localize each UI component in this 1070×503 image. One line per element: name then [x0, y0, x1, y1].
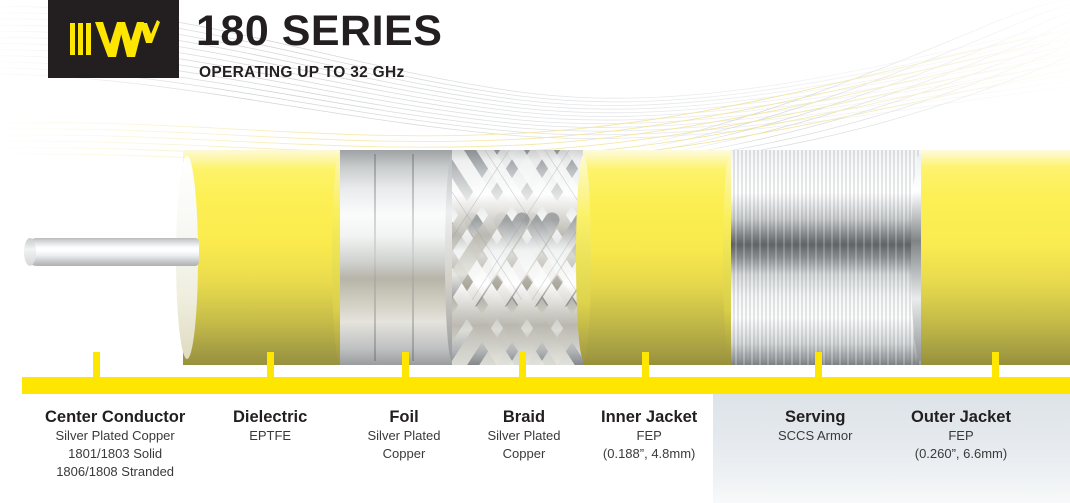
brand-logo	[48, 0, 179, 78]
label-detail-foil-1: Copper	[368, 445, 441, 463]
scale-tick-4	[642, 352, 649, 377]
scale-tick-5	[815, 352, 822, 377]
label-detail-braid-0: Silver Plated	[488, 427, 561, 445]
label-dielectric: DielectricEPTFE	[233, 408, 307, 445]
cable-layer-foil	[340, 150, 452, 365]
inner-jacket-left-rim	[576, 155, 591, 360]
page-subtitle: OPERATING UP TO 32 GHz	[199, 64, 442, 82]
label-row: Center ConductorSilver Plated Copper1801…	[0, 394, 1070, 503]
label-detail-center-conductor-0: Silver Plated Copper	[45, 427, 185, 445]
scale-tick-1	[267, 352, 274, 377]
label-detail-foil-0: Silver Plated	[368, 427, 441, 445]
scale-tick-2	[402, 352, 409, 377]
label-detail-center-conductor-1: 1801/1803 Solid	[45, 445, 185, 463]
label-foil: FoilSilver PlatedCopper	[368, 408, 441, 463]
label-detail-inner-jacket-0: FEP	[601, 427, 697, 445]
label-detail-serving-0: SCCS Armor	[778, 427, 852, 445]
page-title: 180 SERIES	[196, 10, 442, 53]
label-detail-center-conductor-2: 1806/1808 Stranded	[45, 463, 185, 481]
foil-seam-line	[374, 154, 376, 361]
label-serving: ServingSCCS Armor	[778, 408, 852, 445]
cable-layer-braid	[452, 150, 586, 365]
label-center-conductor: Center ConductorSilver Plated Copper1801…	[45, 408, 185, 481]
label-detail-outer-jacket-1: (0.260”, 6.6mm)	[911, 445, 1011, 463]
header-banner: 180 SERIES OPERATING UP TO 32 GHz	[0, 0, 1070, 160]
scale-bar	[22, 377, 1070, 394]
center-conductor-end-cap	[24, 238, 36, 266]
label-title-braid: Braid	[488, 408, 561, 427]
cable-layer-dielectric	[183, 150, 340, 365]
label-inner-jacket: Inner JacketFEP(0.188”, 4.8mm)	[601, 408, 697, 463]
label-title-dielectric: Dielectric	[233, 408, 307, 427]
cable-layer-outer-jacket	[921, 150, 1070, 365]
label-title-center-conductor: Center Conductor	[45, 408, 185, 427]
label-detail-inner-jacket-1: (0.188”, 4.8mm)	[601, 445, 697, 463]
cable-cutaway-illustration	[0, 150, 1070, 365]
label-title-outer-jacket: Outer Jacket	[911, 408, 1011, 427]
cable-layer-serving	[731, 150, 921, 365]
label-title-inner-jacket: Inner Jacket	[601, 408, 697, 427]
scale-tick-0	[93, 352, 100, 377]
label-detail-braid-1: Copper	[488, 445, 561, 463]
serving-wire-pattern	[731, 150, 921, 365]
highlight-band	[713, 394, 1070, 503]
cable-layer-center-conductor	[24, 238, 199, 266]
label-detail-outer-jacket-0: FEP	[911, 427, 1011, 445]
foil-seam-line	[412, 154, 414, 361]
title-block: 180 SERIES OPERATING UP TO 32 GHz	[196, 10, 442, 82]
label-outer-jacket: Outer JacketFEP(0.260”, 6.6mm)	[911, 408, 1011, 463]
label-title-foil: Foil	[368, 408, 441, 427]
scale-tick-3	[519, 352, 526, 377]
product-spec-diagram: 180 SERIES OPERATING UP TO 32 GHz	[0, 0, 1070, 503]
label-braid: BraidSilver PlatedCopper	[488, 408, 561, 463]
cable-layer-inner-jacket	[583, 150, 731, 365]
braid-weave-pattern	[452, 150, 586, 365]
label-detail-dielectric-0: EPTFE	[233, 427, 307, 445]
label-title-serving: Serving	[778, 408, 852, 427]
carlisle-w-logo-icon	[68, 17, 160, 61]
scale-tick-6	[992, 352, 999, 377]
